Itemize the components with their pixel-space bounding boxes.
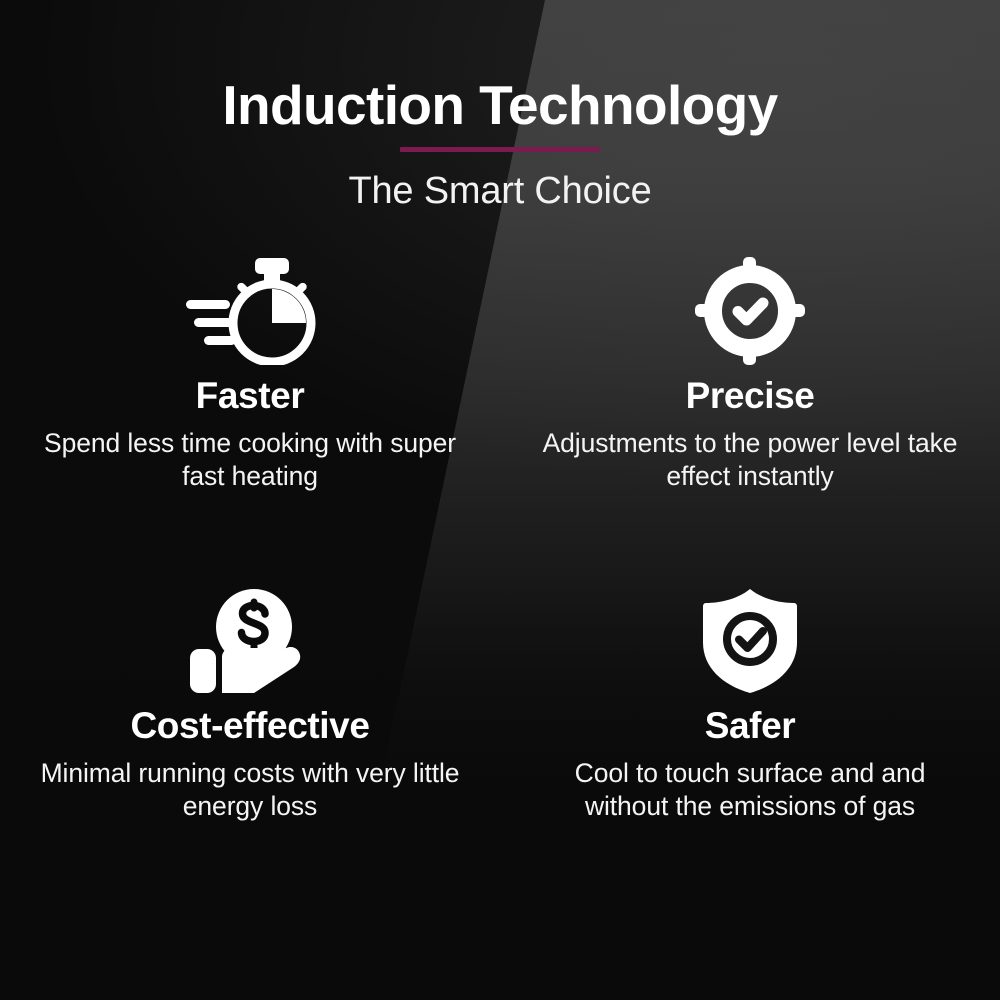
feature-card-precise: Precise Adjustments to the power level t… xyxy=(500,252,1000,582)
feature-title: Faster xyxy=(196,376,305,417)
page-subtitle: The Smart Choice xyxy=(0,170,1000,213)
feature-description: Cool to touch surface and and without th… xyxy=(535,757,965,823)
title-divider-rule xyxy=(400,147,600,152)
feature-title: Cost-effective xyxy=(130,706,369,747)
feature-title: Precise xyxy=(686,376,815,417)
header: Induction Technology The Smart Choice xyxy=(0,76,1000,213)
feature-title: Safer xyxy=(705,706,796,747)
feature-description: Adjustments to the power level take effe… xyxy=(535,427,965,493)
page-title: Induction Technology xyxy=(0,76,1000,135)
shield-check-icon xyxy=(700,582,800,700)
feature-card-safer: Safer Cool to touch surface and and with… xyxy=(500,582,1000,912)
poster-content: Induction Technology The Smart Choice xyxy=(0,0,1000,1000)
hand-holding-coin-icon xyxy=(188,582,312,700)
feature-card-faster: Faster Spend less time cooking with supe… xyxy=(0,252,500,582)
feature-description: Spend less time cooking with super fast … xyxy=(35,427,465,493)
induction-technology-poster: Induction Technology The Smart Choice xyxy=(0,0,1000,1000)
stopwatch-speed-icon xyxy=(184,252,316,370)
feature-card-cost-effective: Cost-effective Minimal running costs wit… xyxy=(0,582,500,912)
target-check-icon xyxy=(695,252,805,370)
feature-description: Minimal running costs with very little e… xyxy=(35,757,465,823)
feature-grid: Faster Spend less time cooking with supe… xyxy=(0,252,1000,912)
